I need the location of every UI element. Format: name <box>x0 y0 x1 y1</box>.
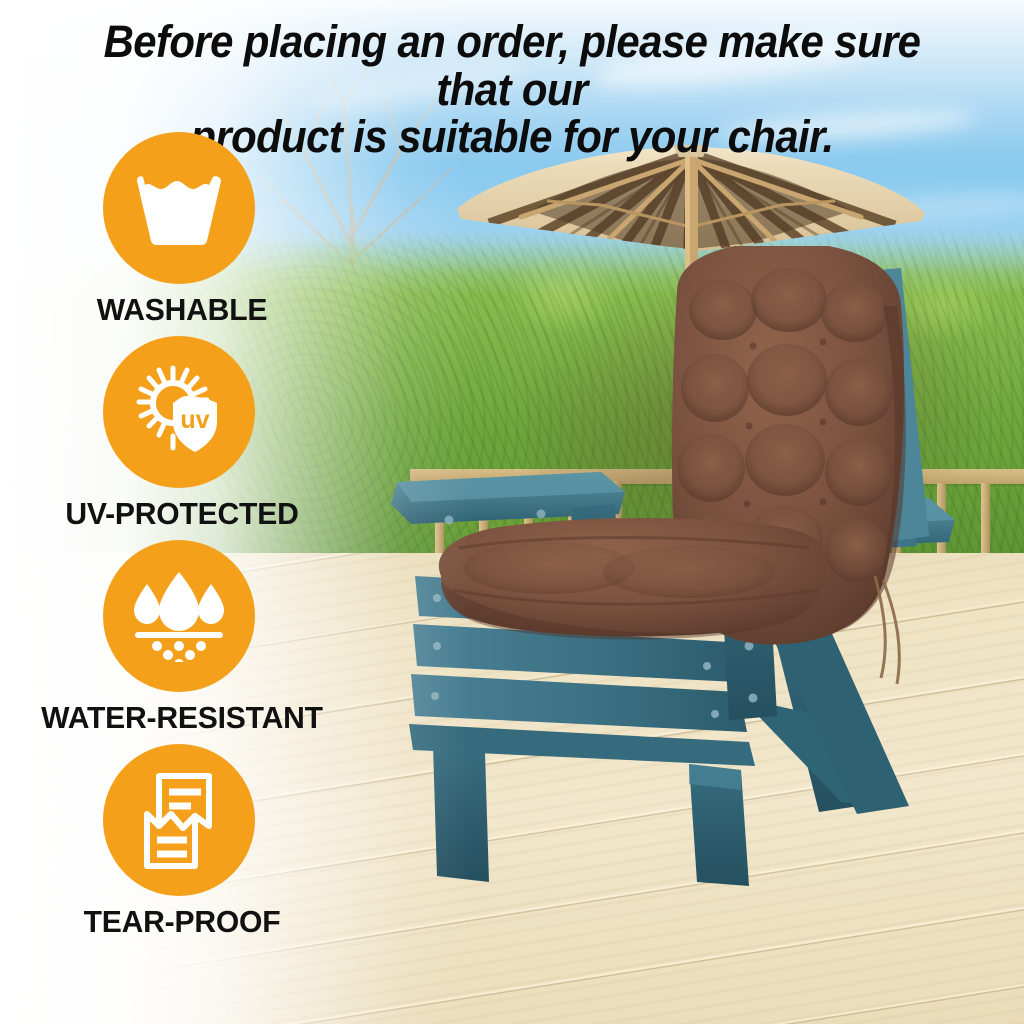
wash-tub-icon <box>133 169 225 247</box>
feature-badge-uv-protected[interactable]: uv UV-PROTECTED <box>0 336 370 540</box>
water-resistant-badge-circle <box>103 540 255 692</box>
feature-label-tear-proof: TEAR-PROOF <box>5 904 358 940</box>
feature-label-water-resistant: WATER-RESISTANT <box>5 700 358 736</box>
sun-uv-shield-icon: uv <box>129 362 229 462</box>
torn-paper-icon <box>133 770 225 870</box>
uv-shield-text: uv <box>180 406 209 434</box>
feature-badge-water-resistant[interactable]: WATER-RESISTANT <box>0 540 370 744</box>
feature-badge-tear-proof[interactable]: TEAR-PROOF <box>0 744 370 948</box>
water-droplets-icon <box>129 570 229 662</box>
tear-proof-badge-circle <box>103 744 255 896</box>
feature-badge-list: WASHABLE <box>0 132 370 948</box>
headline-line-1: Before placing an order, please make sur… <box>104 16 921 115</box>
feature-label-washable: WASHABLE <box>5 292 358 328</box>
feature-label-uv-protected: UV-PROTECTED <box>5 496 358 532</box>
adirondack-chair-with-cushion <box>389 246 989 886</box>
uv-protected-badge-circle: uv <box>103 336 255 488</box>
feature-badge-washable[interactable]: WASHABLE <box>0 132 370 336</box>
washable-badge-circle <box>103 132 255 284</box>
